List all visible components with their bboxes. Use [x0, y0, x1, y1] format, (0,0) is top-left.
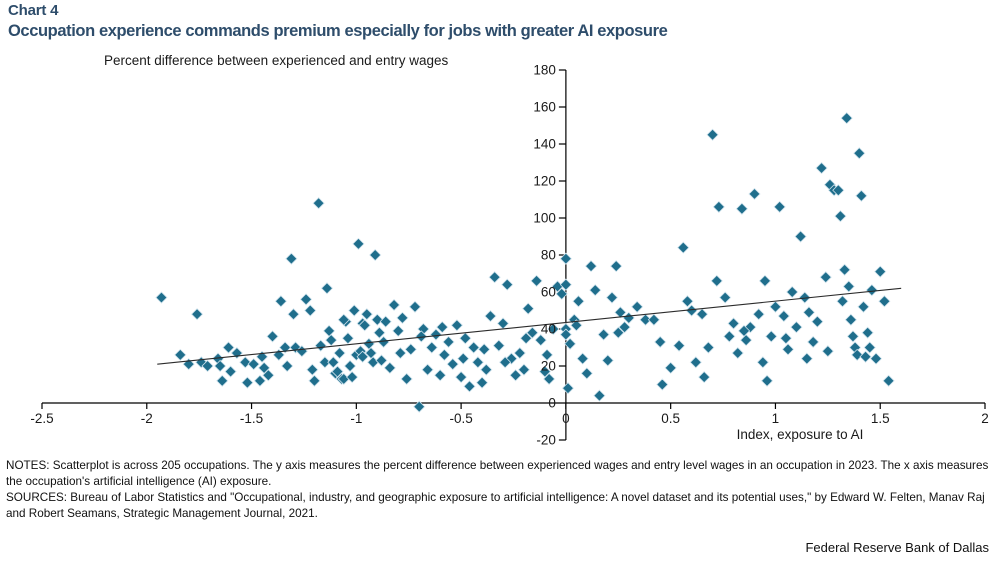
x-axis-tick-label: 2	[981, 411, 989, 426]
data-point	[736, 203, 747, 214]
data-point	[816, 163, 827, 174]
data-point	[347, 372, 358, 383]
data-point	[422, 364, 433, 375]
data-point	[741, 335, 752, 346]
data-point	[240, 357, 251, 368]
x-axis-tick-label: 0.5	[661, 411, 680, 426]
data-point	[370, 250, 381, 261]
data-point	[822, 346, 833, 357]
y-axis-tick-label: 100	[500, 211, 556, 226]
data-point	[345, 361, 356, 372]
data-point	[363, 338, 374, 349]
data-point	[866, 285, 877, 296]
data-point	[477, 377, 488, 388]
data-point	[678, 242, 689, 253]
y-axis-tick-label: 40	[500, 322, 556, 337]
data-point	[288, 309, 299, 320]
y-axis-tick-label: 0	[500, 396, 556, 411]
data-point	[665, 362, 676, 373]
data-point	[787, 287, 798, 298]
data-point	[493, 340, 504, 351]
data-point	[384, 362, 395, 373]
data-point	[707, 129, 718, 140]
data-point	[353, 238, 364, 249]
data-point	[879, 296, 890, 307]
data-point	[286, 253, 297, 264]
data-point	[711, 275, 722, 286]
data-point	[254, 375, 265, 386]
x-axis-tick-label: -0.5	[449, 411, 472, 426]
data-point	[405, 344, 416, 355]
data-point	[225, 366, 236, 377]
data-point	[720, 292, 731, 303]
data-point	[479, 344, 490, 355]
data-point	[801, 353, 812, 364]
x-axis-title: Index, exposure to AI	[737, 427, 864, 442]
data-point	[401, 373, 412, 384]
y-axis-tick-label: 180	[500, 63, 556, 78]
data-point	[791, 322, 802, 333]
y-axis-tick-label: 140	[500, 137, 556, 152]
y-axis-tick-label: 20	[500, 359, 556, 374]
data-point	[766, 331, 777, 342]
data-point	[562, 383, 573, 394]
data-point	[460, 333, 471, 344]
chart-page: Chart 4 Occupation experience commands p…	[0, 0, 997, 565]
data-point	[883, 375, 894, 386]
data-point	[485, 311, 496, 322]
data-point	[586, 261, 597, 272]
data-point	[862, 327, 873, 338]
data-point	[223, 342, 234, 353]
data-point	[472, 357, 483, 368]
data-point	[858, 301, 869, 312]
data-point	[349, 305, 360, 316]
x-axis-tick-label: -1	[350, 411, 362, 426]
data-point	[753, 309, 764, 320]
data-point	[334, 348, 345, 359]
data-point	[839, 264, 850, 275]
data-point	[843, 281, 854, 292]
data-point	[523, 303, 534, 314]
data-point	[464, 381, 475, 392]
data-point	[657, 379, 668, 390]
data-point	[395, 348, 406, 359]
data-point	[321, 283, 332, 294]
data-point	[443, 336, 454, 347]
data-point	[699, 372, 710, 383]
data-point	[217, 375, 228, 386]
data-point	[632, 301, 643, 312]
data-point	[602, 355, 613, 366]
notes-text: NOTES: Scatterplot is across 205 occupat…	[6, 458, 991, 490]
y-axis-tick-label: 160	[500, 100, 556, 115]
data-point	[397, 312, 408, 323]
data-point	[783, 344, 794, 355]
data-point	[577, 353, 588, 364]
data-point	[305, 305, 316, 316]
data-point	[724, 331, 735, 342]
data-point	[248, 359, 259, 370]
y-axis-tick-label: 80	[500, 248, 556, 263]
data-point	[713, 201, 724, 212]
data-point	[770, 301, 781, 312]
data-point	[368, 357, 379, 368]
footnotes: NOTES: Scatterplot is across 205 occupat…	[6, 458, 991, 523]
data-point	[468, 342, 479, 353]
x-axis-tick-label: -1.5	[240, 411, 263, 426]
institution-credit: Federal Reserve Bank of Dallas	[805, 540, 989, 555]
data-point	[774, 201, 785, 212]
sources-text: SOURCES: Bureau of Labor Statistics and …	[6, 490, 991, 522]
data-point	[301, 294, 312, 305]
data-point	[458, 353, 469, 364]
data-point	[313, 198, 324, 209]
data-point	[282, 361, 293, 372]
data-point	[778, 311, 789, 322]
data-point	[732, 348, 743, 359]
x-axis-tick-label: 0	[562, 411, 570, 426]
data-point	[611, 261, 622, 272]
data-point	[803, 307, 814, 318]
data-point	[192, 309, 203, 320]
y-axis-tick-label: -20	[500, 433, 556, 448]
data-point	[598, 329, 609, 340]
data-point	[762, 375, 773, 386]
data-point	[845, 314, 856, 325]
x-axis-tick-label: 1.5	[871, 411, 890, 426]
data-point	[655, 336, 666, 347]
data-point	[242, 377, 253, 388]
data-point	[690, 357, 701, 368]
scatter-svg	[0, 0, 997, 455]
data-point	[749, 188, 760, 199]
data-point	[841, 113, 852, 124]
data-point	[514, 348, 525, 359]
data-point	[315, 340, 326, 351]
data-point	[439, 349, 450, 360]
data-point	[728, 318, 739, 329]
data-point	[606, 292, 617, 303]
data-point	[380, 316, 391, 327]
data-point	[481, 364, 492, 375]
data-point	[820, 272, 831, 283]
data-point	[590, 285, 601, 296]
data-point	[871, 353, 882, 364]
data-point	[856, 190, 867, 201]
data-point	[573, 296, 584, 307]
data-point	[875, 266, 886, 277]
data-point	[307, 364, 318, 375]
data-point	[435, 370, 446, 381]
x-axis-tick-label: -2	[141, 411, 153, 426]
data-point	[426, 342, 437, 353]
data-point	[309, 375, 320, 386]
data-point	[581, 368, 592, 379]
y-axis-tick-label: 120	[500, 174, 556, 189]
data-point	[275, 296, 286, 307]
data-point	[759, 275, 770, 286]
data-point	[156, 292, 167, 303]
data-point	[697, 309, 708, 320]
data-point	[456, 372, 467, 383]
data-point	[447, 359, 458, 370]
data-point	[267, 331, 278, 342]
data-point	[324, 325, 335, 336]
data-point	[393, 325, 404, 336]
data-point	[757, 357, 768, 368]
data-point	[812, 316, 823, 327]
data-point	[835, 211, 846, 222]
data-point	[376, 355, 387, 366]
data-point	[674, 340, 685, 351]
data-point	[808, 336, 819, 347]
data-point	[795, 231, 806, 242]
x-axis-tick-label: 1	[772, 411, 780, 426]
data-point	[489, 272, 500, 283]
data-point	[372, 314, 383, 325]
data-point	[648, 314, 659, 325]
data-point	[326, 335, 337, 346]
data-point	[389, 299, 400, 310]
data-point	[703, 342, 714, 353]
data-point	[451, 320, 462, 331]
x-axis-tick-label: -2.5	[30, 411, 53, 426]
scatter-plot-area: -2.5-2-1.5-1-0.500.511.52-20020406080100…	[0, 0, 997, 455]
data-point	[410, 301, 421, 312]
data-point	[780, 333, 791, 344]
data-point	[847, 331, 858, 342]
data-point	[837, 296, 848, 307]
data-point	[594, 390, 605, 401]
data-point	[342, 333, 353, 344]
y-axis-tick-label: 60	[500, 285, 556, 300]
data-point	[854, 148, 865, 159]
data-point	[175, 349, 186, 360]
